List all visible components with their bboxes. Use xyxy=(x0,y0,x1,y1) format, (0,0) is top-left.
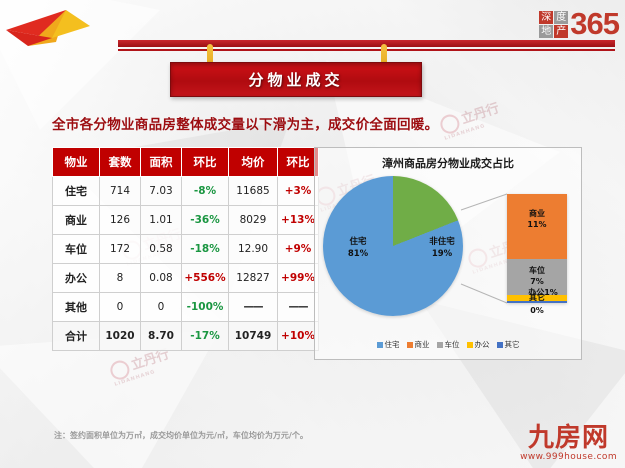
brand-logo-number: 365 xyxy=(570,9,619,39)
site-logo-name: 九房网 xyxy=(520,425,617,452)
cell-property: 合计 xyxy=(53,322,100,351)
bar-label-commercial-pct: 11% xyxy=(527,220,546,229)
legend-swatch xyxy=(407,342,413,348)
pie-label-nonresidential-pct: 19% xyxy=(432,249,452,259)
subtitle-text: 全市各分物业商品房整体成交量以下滑为主，成交价全面回暖。 xyxy=(52,113,438,133)
cell-price-mom: +13% xyxy=(278,206,319,235)
col-header-area-mom: 环比 xyxy=(182,148,229,177)
table-row: 办公 8 0.08 +556% 12827 +99% xyxy=(53,264,319,293)
cell-price-mom: +99% xyxy=(278,264,319,293)
chart-legend: 住宅 商业 车位 办公 其它 xyxy=(315,339,581,350)
table-header-row: 物业 套数 面积 环比 均价 环比 xyxy=(53,148,319,177)
stacked-bar-breakout: 商业 11% 车位 7% 办公1% 其它 xyxy=(507,194,567,303)
cell-area: 8.70 xyxy=(141,322,182,351)
bar-segment-parking: 车位 7% 办公1% xyxy=(507,259,567,295)
legend-swatch xyxy=(467,342,473,348)
legend-item-commercial: 商业 xyxy=(407,339,430,350)
legend-item-parking: 车位 xyxy=(437,339,460,350)
bar-segment-commercial: 商业 11% xyxy=(507,194,567,259)
cell-area: 0.08 xyxy=(141,264,182,293)
cell-price: 11685 xyxy=(229,177,278,206)
cell-count: 0 xyxy=(100,293,141,322)
watermark-seal-icon xyxy=(108,358,132,382)
col-header-count: 套数 xyxy=(100,148,141,177)
table-row: 商业 126 1.01 -36% 8029 +13% xyxy=(53,206,319,235)
table-row: 车位 172 0.58 -18% 12.90 +9% xyxy=(53,235,319,264)
bar-label-commercial: 商业 11% xyxy=(507,208,567,230)
cell-area: 7.03 xyxy=(141,177,182,206)
cell-area-mom: +556% xyxy=(182,264,229,293)
cell-price: 12827 xyxy=(229,264,278,293)
bar-label-parking: 车位 7% xyxy=(507,265,567,287)
pie-label-nonresidential-name: 非住宅 xyxy=(429,237,455,247)
cell-area-mom: -36% xyxy=(182,206,229,235)
section-title-plaque: 分物业成交 xyxy=(170,62,422,97)
cell-area-mom: -18% xyxy=(182,235,229,264)
cell-price: 12.90 xyxy=(229,235,278,264)
cell-count: 1020 xyxy=(100,322,141,351)
legend-swatch xyxy=(437,342,443,348)
legend-item-residential: 住宅 xyxy=(377,339,400,350)
brand-char-3: 产 xyxy=(554,25,568,38)
brand-char-2: 地 xyxy=(539,25,553,38)
brand-logo-365: 深 度 地 产 365 xyxy=(539,6,619,42)
cell-area-mom: -17% xyxy=(182,322,229,351)
col-header-price-mom: 环比 xyxy=(278,148,319,177)
cell-area-mom: -100% xyxy=(182,293,229,322)
table-row: 其他 0 0 -100% —— —— xyxy=(53,293,319,322)
bar-label-parking-name: 车位 xyxy=(529,266,545,275)
watermark: 立丹行LIDANHANG xyxy=(437,97,503,142)
cell-price-mom: —— xyxy=(278,293,319,322)
cell-count: 172 xyxy=(100,235,141,264)
cell-property: 住宅 xyxy=(53,177,100,206)
bar-label-other-pct: 0% xyxy=(507,306,567,315)
pie-label-residential-name: 住宅 xyxy=(349,237,366,247)
cell-count: 714 xyxy=(100,177,141,206)
property-transaction-table: 物业 套数 面积 环比 均价 环比 住宅 714 7.03 -8% 11685 … xyxy=(52,147,319,351)
header-rule-thin xyxy=(118,49,615,51)
table-row-total: 合计 1020 8.70 -17% 10749 +10% xyxy=(53,322,319,351)
cell-count: 8 xyxy=(100,264,141,293)
cell-count: 126 xyxy=(100,206,141,235)
section-title-text: 分物业成交 xyxy=(248,69,343,90)
cell-price-mom: +9% xyxy=(278,235,319,264)
cell-price-mom: +3% xyxy=(278,177,319,206)
legend-swatch xyxy=(497,342,503,348)
brand-logo-cn-grid: 深 度 地 产 xyxy=(539,11,568,38)
legend-swatch xyxy=(377,342,383,348)
cell-price: 10749 xyxy=(229,322,278,351)
cell-area: 1.01 xyxy=(141,206,182,235)
pie-label-residential-pct: 81% xyxy=(348,249,368,259)
slide-canvas: 深 度 地 产 365 分物业成交 全市各分物业商品房整体成交量以下滑为主，成交… xyxy=(0,0,625,468)
cell-property: 车位 xyxy=(53,235,100,264)
col-header-property: 物业 xyxy=(53,148,100,177)
footnote: 注：签约面积单位为万㎡，成交均价单位为元/㎡，车位均价为万元/个。 xyxy=(54,430,308,441)
cell-price: —— xyxy=(229,293,278,322)
pie-label-nonresidential: 非住宅 19% xyxy=(417,236,467,260)
cell-property: 其他 xyxy=(53,293,100,322)
table-body: 住宅 714 7.03 -8% 11685 +3% 商业 126 1.01 -3… xyxy=(53,177,319,351)
brand-char-0: 深 xyxy=(539,11,553,24)
paper-plane-arrow-icon xyxy=(4,6,124,52)
col-header-area: 面积 xyxy=(141,148,182,177)
cell-price-mom: +10% xyxy=(278,322,319,351)
cell-property: 商业 xyxy=(53,206,100,235)
cell-price: 8029 xyxy=(229,206,278,235)
table-row: 住宅 714 7.03 -8% 11685 +3% xyxy=(53,177,319,206)
cell-property: 办公 xyxy=(53,264,100,293)
brand-char-1: 度 xyxy=(554,11,568,24)
bar-of-pie-chart: 漳州商品房分物业成交占比 住宅 81% 非住宅 19% 商业 11% 车位 xyxy=(314,147,582,360)
bar-label-commercial-name: 商业 xyxy=(529,209,545,218)
pie-label-residential: 住宅 81% xyxy=(335,236,381,260)
bar-label-parking-pct: 7% xyxy=(530,277,544,286)
legend-item-office: 办公 xyxy=(467,339,490,350)
cell-area: 0 xyxy=(141,293,182,322)
watermark-seal-icon xyxy=(438,112,462,136)
bar-segment-other xyxy=(507,301,567,303)
site-logo-url: www.999house.com xyxy=(520,452,617,462)
legend-item-other: 其它 xyxy=(497,339,520,350)
site-logo: 九房网 www.999house.com xyxy=(520,425,617,462)
col-header-price: 均价 xyxy=(229,148,278,177)
cell-area-mom: -8% xyxy=(182,177,229,206)
cell-area: 0.58 xyxy=(141,235,182,264)
